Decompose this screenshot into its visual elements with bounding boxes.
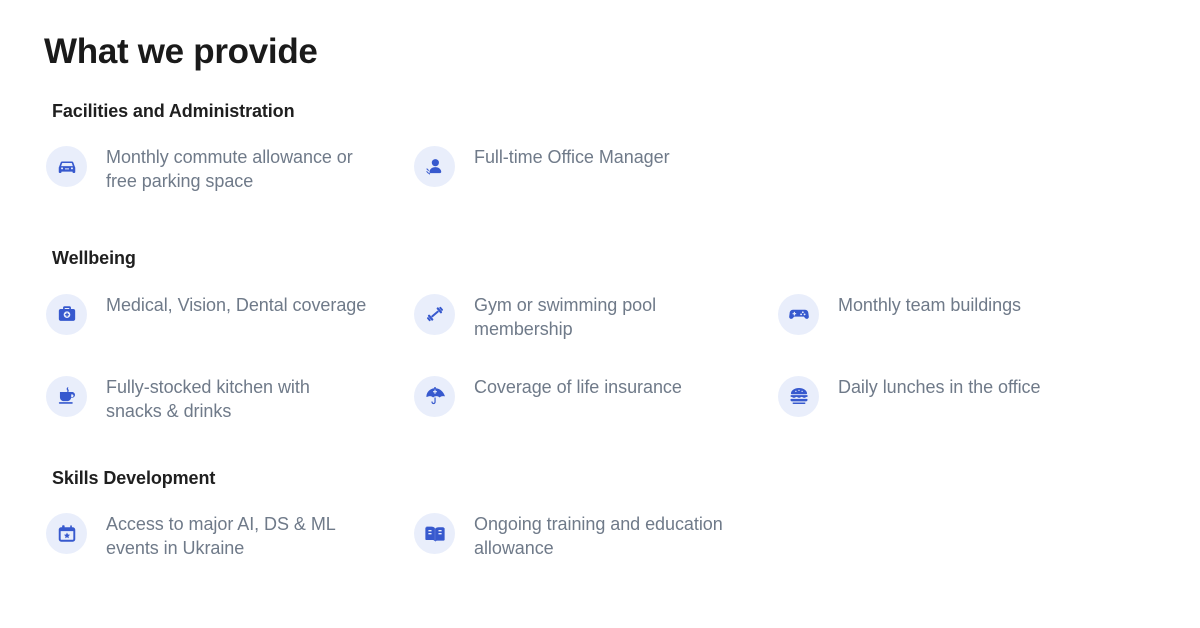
- benefit-item[interactable]: Coverage of life insurance: [368, 375, 732, 417]
- section-spacer: [0, 193, 1200, 247]
- benefit-row: Medical, Vision, Dental coverage: [0, 293, 1200, 341]
- benefit-label: Ongoing training and education allowance: [474, 512, 732, 560]
- benefit-label: Medical, Vision, Dental coverage: [106, 293, 366, 317]
- benefit-label: Gym or swimming pool membership: [474, 293, 732, 341]
- benefit-item[interactable]: Monthly commute allowance or free parkin…: [0, 145, 368, 193]
- section-title: Wellbeing: [52, 247, 1200, 270]
- benefit-label: Monthly team buildings: [838, 293, 1021, 317]
- burger-icon: [778, 376, 819, 417]
- benefit-item[interactable]: Medical, Vision, Dental coverage: [0, 293, 368, 335]
- benefit-item[interactable]: Ongoing training and education allowance: [368, 512, 732, 560]
- page-title: What we provide: [44, 31, 318, 73]
- benefit-item[interactable]: Gym or swimming pool membership: [368, 293, 732, 341]
- benefit-row: Fully-stocked kitchen with snacks & drin…: [0, 375, 1200, 423]
- benefit-label: Monthly commute allowance or free parkin…: [106, 145, 368, 193]
- section-rows: Access to major AI, DS & ML events in Uk…: [0, 512, 1200, 560]
- dumbbell-icon: [414, 294, 455, 335]
- section-title: Facilities and Administration: [52, 100, 1200, 123]
- section-rows: Monthly commute allowance or free parkin…: [0, 145, 1200, 193]
- benefit-item[interactable]: Fully-stocked kitchen with snacks & drin…: [0, 375, 368, 423]
- open-book-icon: [414, 513, 455, 554]
- section-wellbeing: Wellbeing Medical, Vision, Dental covera…: [0, 247, 1200, 422]
- benefit-row: Monthly commute allowance or free parkin…: [0, 145, 1200, 193]
- benefit-label: Coverage of life insurance: [474, 375, 682, 399]
- medical-kit-icon: [46, 294, 87, 335]
- calendar-star-icon: [46, 513, 87, 554]
- office-manager-person-icon: [414, 146, 455, 187]
- benefit-label: Fully-stocked kitchen with snacks & drin…: [106, 375, 368, 423]
- benefit-item[interactable]: Full-time Office Manager: [368, 145, 732, 187]
- section-rows: Medical, Vision, Dental coverage: [0, 293, 1200, 423]
- benefit-item[interactable]: Daily lunches in the office: [732, 375, 1100, 417]
- section-facilities-and-administration: Facilities and Administration Monthly co…: [0, 100, 1200, 193]
- gamepad-icon: [778, 294, 819, 335]
- benefit-item[interactable]: Monthly team buildings: [732, 293, 1100, 335]
- benefit-label: Full-time Office Manager: [474, 145, 670, 169]
- benefit-row: Access to major AI, DS & ML events in Uk…: [0, 512, 1200, 560]
- section-title: Skills Development: [52, 467, 1200, 490]
- benefits-page: What we provide Facilities and Administr…: [0, 0, 1200, 628]
- section-spacer: [0, 423, 1200, 467]
- umbrella-icon: [414, 376, 455, 417]
- coffee-cup-icon: [46, 376, 87, 417]
- section-skills-development: Skills Development Access to major AI, D…: [0, 467, 1200, 560]
- benefit-item[interactable]: Access to major AI, DS & ML events in Uk…: [0, 512, 368, 560]
- benefit-label: Access to major AI, DS & ML events in Uk…: [106, 512, 368, 560]
- car-icon: [46, 146, 87, 187]
- benefits-sections: Facilities and Administration Monthly co…: [0, 100, 1200, 560]
- benefit-label: Daily lunches in the office: [838, 375, 1040, 399]
